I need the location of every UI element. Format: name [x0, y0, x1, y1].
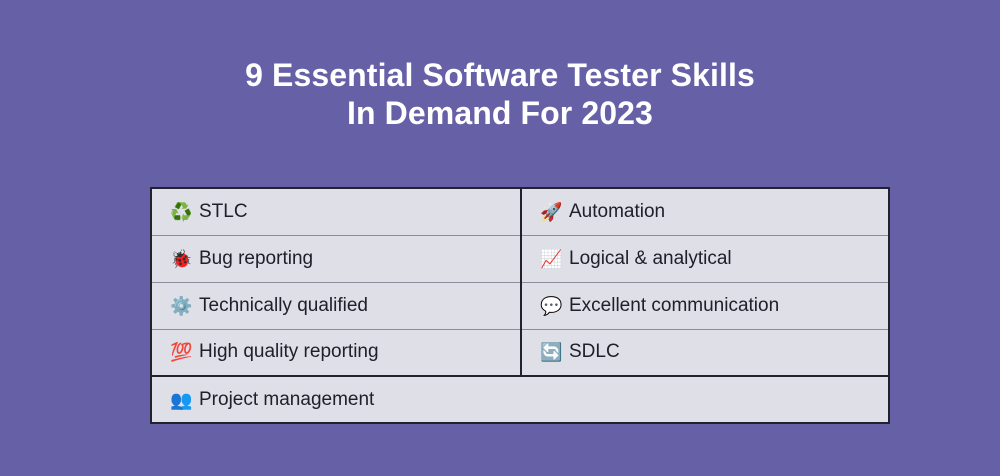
skill-label: Bug reporting: [199, 247, 313, 271]
table-row: ⚙️ Technically qualified 💬 Excellent com…: [151, 282, 889, 329]
skill-cell-stlc: ♻️ STLC: [151, 188, 521, 235]
skill-cell-logical-analytical: 📈 Logical & analytical: [521, 235, 889, 282]
skill-label: Logical & analytical: [569, 247, 732, 271]
recycling-symbol-icon: ♻️: [170, 203, 190, 221]
skill-label: SDLC: [569, 340, 620, 364]
skills-table: ♻️ STLC 🚀 Automation 🐞 Bug reporting: [150, 187, 890, 424]
rocket-icon: 🚀: [540, 203, 560, 221]
busts-in-silhouette-icon: 👥: [170, 391, 190, 409]
counterclockwise-arrows-icon: 🔄: [540, 343, 560, 361]
page-title: 9 Essential Software Tester Skills In De…: [0, 56, 1000, 132]
skill-cell-high-quality-reporting: 💯 High quality reporting: [151, 329, 521, 376]
skill-label: Technically qualified: [199, 294, 368, 318]
table-row: ♻️ STLC 🚀 Automation: [151, 188, 889, 235]
gear-icon: ⚙️: [170, 297, 190, 315]
skill-label: Excellent communication: [569, 294, 779, 318]
table-row: 👥 Project management: [151, 376, 889, 423]
infographic-page: 9 Essential Software Tester Skills In De…: [0, 0, 1000, 476]
table-row: 🐞 Bug reporting 📈 Logical & analytical: [151, 235, 889, 282]
page-title-line-1: 9 Essential Software Tester Skills: [0, 56, 1000, 94]
table-row: 💯 High quality reporting 🔄 SDLC: [151, 329, 889, 376]
skill-cell-automation: 🚀 Automation: [521, 188, 889, 235]
skill-cell-technically-qualified: ⚙️ Technically qualified: [151, 282, 521, 329]
skill-cell-project-management: 👥 Project management: [151, 376, 889, 423]
skill-cell-excellent-communication: 💬 Excellent communication: [521, 282, 889, 329]
speech-balloon-icon: 💬: [540, 297, 560, 315]
skill-label: STLC: [199, 200, 248, 224]
chart-increasing-icon: 📈: [540, 250, 560, 268]
skill-cell-bug-reporting: 🐞 Bug reporting: [151, 235, 521, 282]
page-title-line-2: In Demand For 2023: [0, 94, 1000, 132]
skill-cell-sdlc: 🔄 SDLC: [521, 329, 889, 376]
lady-beetle-icon: 🐞: [170, 250, 190, 268]
skill-label: Automation: [569, 200, 665, 224]
skill-label: High quality reporting: [199, 340, 379, 364]
hundred-points-icon: 💯: [170, 343, 190, 361]
skill-label: Project management: [199, 388, 374, 412]
